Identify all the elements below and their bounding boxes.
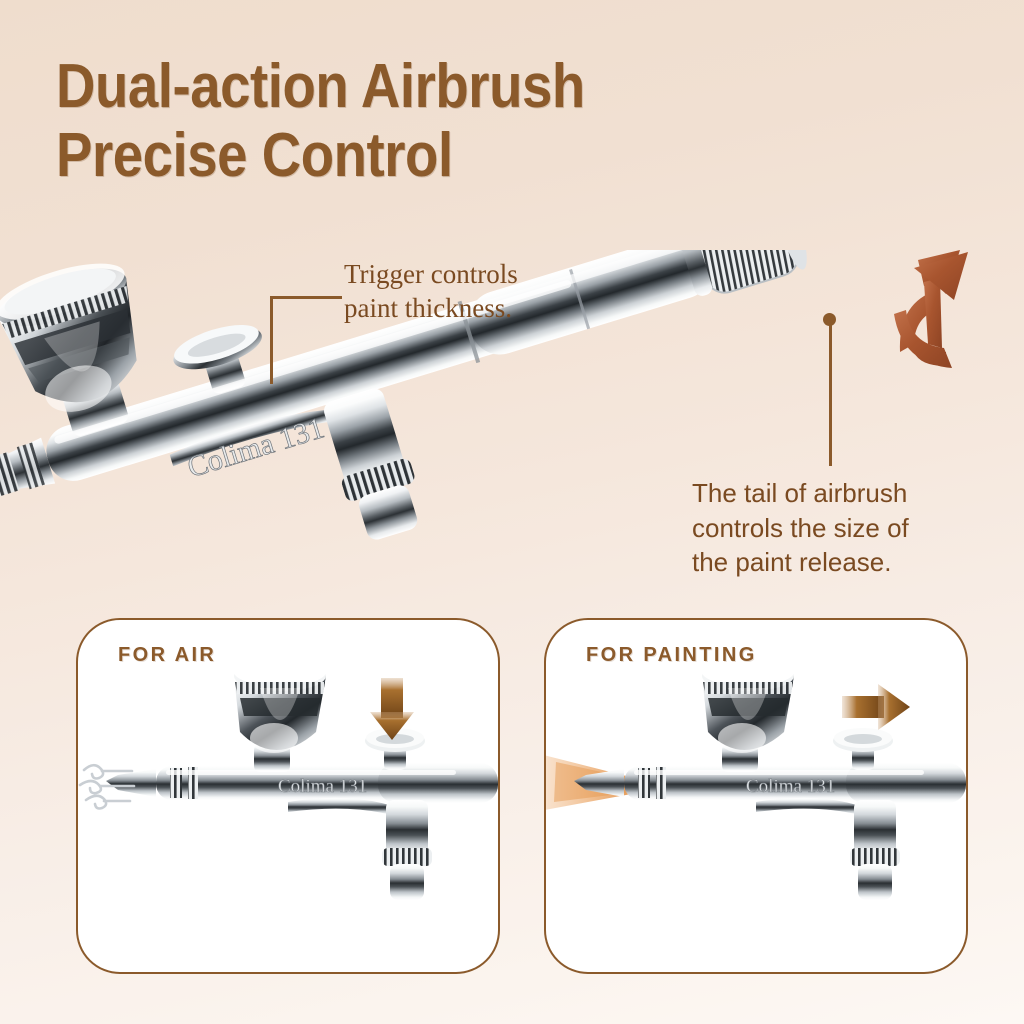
air-swirl-icon [80, 765, 134, 808]
leader-line-tail [829, 320, 832, 466]
infographic-canvas: Dual-action Airbrush Precise Control [0, 0, 1024, 1024]
page-title: Dual-action Airbrush Precise Control [56, 52, 830, 191]
callout-trigger-text: Trigger controls paint thickness. [344, 258, 644, 326]
panel-for-painting: FOR PAINTING [544, 618, 968, 974]
curved-rotation-arrow-icon [884, 248, 1002, 376]
panel-label-for-painting: FOR PAINTING [586, 644, 757, 667]
callout-tail-text: The tail of airbrush controls the size o… [692, 476, 992, 580]
leader-line-trigger-horizontal [270, 296, 342, 299]
leader-dot-tail [823, 313, 836, 326]
panel-engraving-air: Colima 131 [278, 776, 367, 797]
panel-label-for-air: FOR AIR [118, 644, 216, 667]
airbrush-illustration-air: Colima 131 [78, 620, 498, 972]
arrow-right-icon [842, 684, 910, 730]
leader-line-trigger-vertical [270, 296, 273, 384]
panel-engraving-painting: Colima 131 [746, 776, 835, 797]
airbrush-illustration-painting: Colima 131 [546, 620, 966, 972]
panel-for-air: FOR AIR [76, 618, 500, 974]
